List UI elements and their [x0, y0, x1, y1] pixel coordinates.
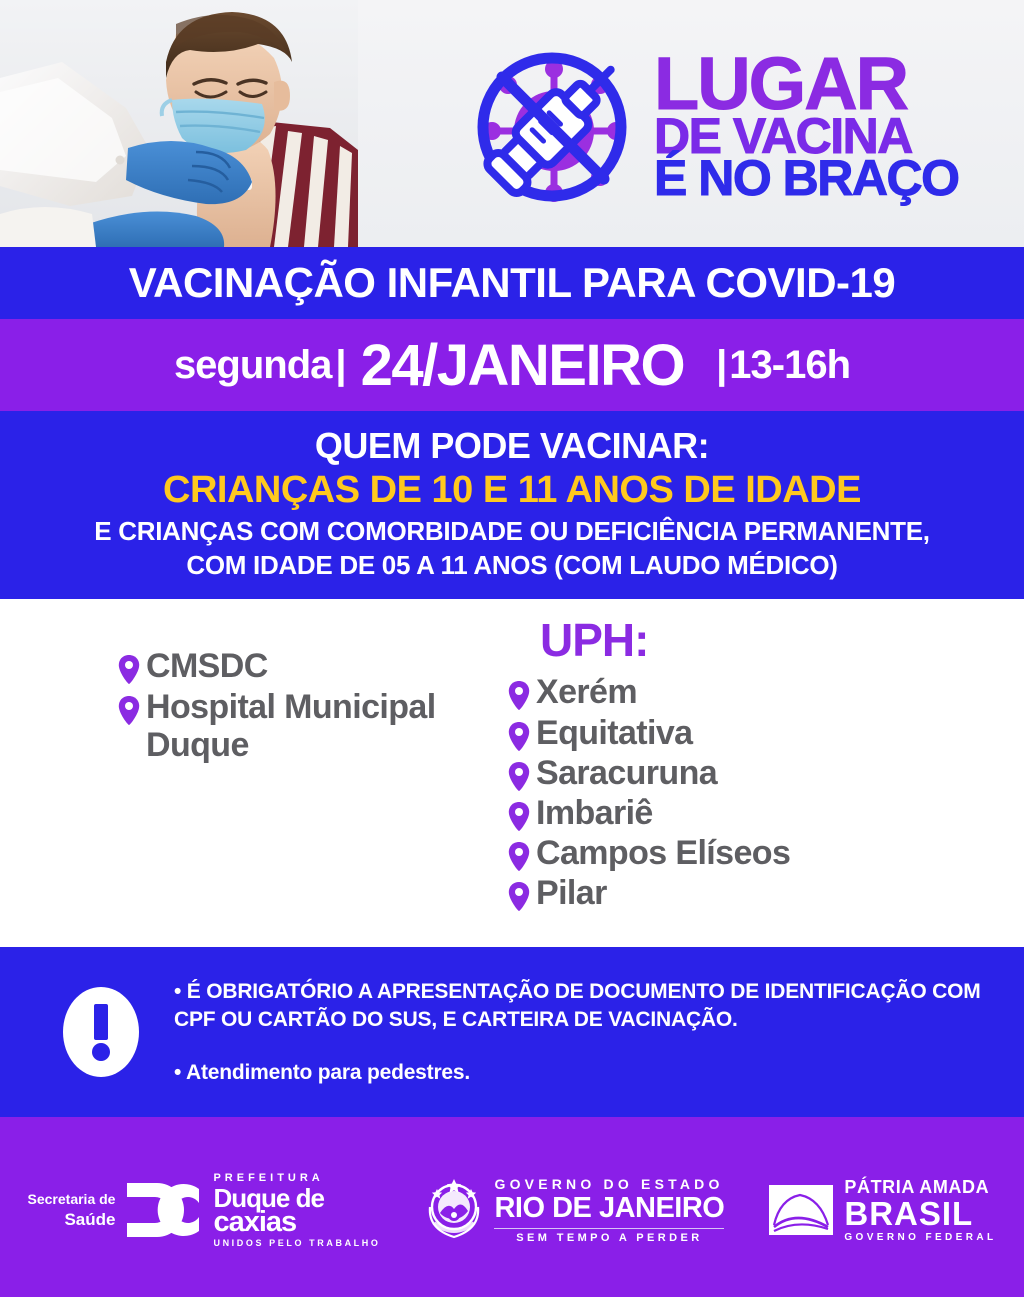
governo-estado-name: RIO DE JANEIRO: [494, 1194, 724, 1223]
federal-line-2: BRASIL: [844, 1197, 996, 1230]
logo-line-1: LUGAR: [654, 53, 958, 115]
list-item[interactable]: Xerém: [508, 673, 928, 711]
list-item[interactable]: Equitativa: [508, 714, 928, 752]
list-item[interactable]: Campos Elíseos: [508, 834, 928, 872]
rio-de-janeiro-coat-of-arms-icon: [424, 1177, 484, 1243]
map-pin-icon: [508, 762, 530, 792]
poster-root: LUGAR DE VACINA É NO BRAÇO VACINAÇÃO INF…: [0, 0, 1024, 1280]
map-pin-icon: [508, 802, 530, 832]
map-pin-icon: [118, 696, 140, 726]
location-name: Campos Elíseos: [536, 834, 790, 872]
hero-section: LUGAR DE VACINA É NO BRAÇO: [0, 0, 1024, 247]
exclamation-circle-icon: [62, 986, 140, 1078]
governo-estado-tagline: SEM TEMPO A PERDER: [494, 1233, 724, 1244]
governo-estado-eyebrow: GOVERNO DO ESTADO: [494, 1177, 724, 1191]
date-separator-2: |: [694, 343, 727, 388]
syringe-virus-prohibition-icon: [462, 35, 640, 213]
footer-logos: Secretaria de Saúde PREFEITURA Duque de …: [0, 1117, 1024, 1297]
map-pin-icon: [508, 842, 530, 872]
location-name: Pilar: [536, 874, 607, 912]
list-item[interactable]: CMSDC: [118, 647, 498, 685]
location-name: Saracuruna: [536, 754, 717, 792]
eligibility-heading: QUEM PODE VACINAR:: [0, 425, 1024, 466]
eligibility-sub-line-2: COM IDADE DE 05 A 11 ANOS (COM LAUDO MÉD…: [0, 550, 1024, 582]
date-separator-1: |: [331, 343, 350, 388]
federal-line-1: PÁTRIA AMADA: [844, 1178, 996, 1196]
governo-estado-text: GOVERNO DO ESTADO RIO DE JANEIRO SEM TEM…: [494, 1177, 724, 1244]
date-value: 24/JANEIRO: [351, 332, 694, 399]
map-pin-icon: [508, 722, 530, 752]
federal-tagline: GOVERNO FEDERAL: [844, 1233, 996, 1243]
map-pin-icon: [508, 681, 530, 711]
secretaria-line-2: Saúde: [28, 1209, 116, 1230]
date-band: segunda | 24/JANEIRO | 13-16h: [0, 319, 1024, 411]
vaccination-photo: [0, 0, 358, 247]
location-name: Imbariê: [536, 794, 653, 832]
divider: [494, 1228, 724, 1229]
uph-heading: UPH:: [508, 613, 928, 667]
list-item[interactable]: Pilar: [508, 874, 928, 912]
prefeitura-tagline: UNIDOS PELO TRABALHO: [213, 1239, 380, 1248]
map-pin-icon: [508, 882, 530, 912]
secretaria-line-1: Secretaria de: [28, 1191, 116, 1209]
weekday-label: segunda: [174, 343, 331, 388]
list-item[interactable]: Saracuruna: [508, 754, 928, 792]
locations-section: CMSDC Hospital Municipal Duque UPH: Xeré…: [0, 599, 1024, 947]
notice-bullet-2: • Atendimento para pedestres.: [174, 1059, 984, 1087]
list-item[interactable]: Hospital Municipal Duque: [118, 688, 498, 764]
dc-monogram-icon: [125, 1181, 203, 1239]
hours-value: 13-16h: [727, 343, 850, 388]
governo-federal-text: PÁTRIA AMADA BRASIL GOVERNO FEDERAL: [844, 1178, 996, 1243]
prefeitura-text: PREFEITURA Duque de caxias UNIDOS PELO T…: [213, 1173, 380, 1248]
notice-section: • É OBRIGATÓRIO A APRESENTAÇÃO DE DOCUME…: [0, 947, 1024, 1117]
eligibility-highlight: CRIANÇAS DE 10 E 11 ANOS DE IDADE: [0, 468, 1024, 514]
location-name: Equitativa: [536, 714, 692, 752]
governo-federal-logo: PÁTRIA AMADA BRASIL GOVERNO FEDERAL: [768, 1178, 996, 1243]
location-name: CMSDC: [146, 647, 268, 685]
page-title: VACINAÇÃO INFANTIL PARA COVID-19: [129, 259, 896, 307]
governo-estado-logo: GOVERNO DO ESTADO RIO DE JANEIRO SEM TEM…: [424, 1177, 724, 1244]
notice-body: • É OBRIGATÓRIO A APRESENTAÇÃO DE DOCUME…: [174, 978, 984, 1087]
campaign-logo: LUGAR DE VACINA É NO BRAÇO: [462, 28, 1007, 220]
locations-left-column: CMSDC Hospital Municipal Duque: [118, 647, 498, 765]
location-name: Hospital Municipal Duque: [146, 688, 498, 764]
title-band: VACINAÇÃO INFANTIL PARA COVID-19: [0, 247, 1024, 319]
eligibility-sub-line-1: E CRIANÇAS COM COMORBIDADE OU DEFICIÊNCI…: [0, 516, 1024, 548]
map-pin-icon: [118, 655, 140, 685]
locations-right-column: UPH: Xerém Equitativa Saracuruna: [508, 613, 928, 913]
list-item[interactable]: Imbariê: [508, 794, 928, 832]
logo-line-3: É NO BRAÇO: [654, 157, 958, 199]
campaign-logo-type: LUGAR DE VACINA É NO BRAÇO: [654, 49, 958, 199]
location-name: Xerém: [536, 673, 637, 711]
secretaria-saude-logo: Secretaria de Saúde PREFEITURA Duque de …: [28, 1173, 381, 1248]
brasil-government-icon: [768, 1181, 834, 1239]
secretaria-saude-text: Secretaria de Saúde: [28, 1191, 116, 1230]
eligibility-section: QUEM PODE VACINAR: CRIANÇAS DE 10 E 11 A…: [0, 411, 1024, 599]
notice-bullet-1: • É OBRIGATÓRIO A APRESENTAÇÃO DE DOCUME…: [174, 978, 984, 1033]
